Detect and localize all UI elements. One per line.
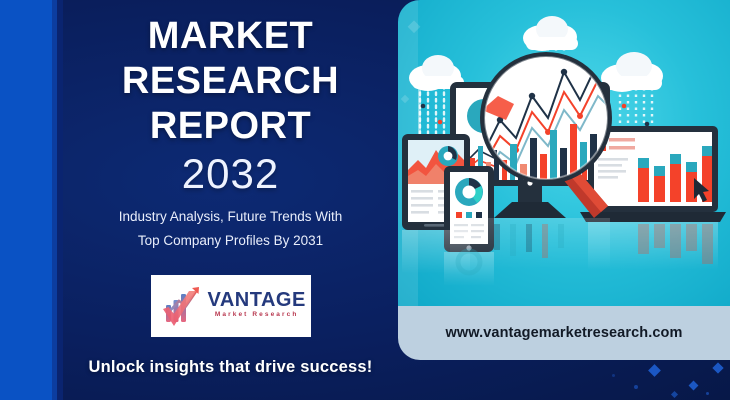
magnifying-glass-icon — [480, 52, 614, 218]
logo-name: VANTAGE — [208, 290, 306, 310]
donut-chart — [455, 178, 483, 206]
subtitle-line-1: Industry Analysis, Future Trends With — [77, 205, 384, 229]
donut-chart — [438, 146, 458, 166]
subtitle-line-2: Top Company Profiles By 2031 — [77, 229, 384, 253]
page-title: MARKET RESEARCH REPORT 2032 — [63, 14, 398, 199]
decorative-dot — [634, 385, 638, 389]
logo-subtitle: Market Research — [215, 310, 299, 320]
website-url-panel[interactable]: www.vantagemarketresearch.com — [398, 306, 730, 360]
legend-swatch — [456, 212, 462, 218]
title-year: 2032 — [63, 149, 398, 199]
title-line-3: REPORT — [63, 104, 398, 149]
logo-wordmark: VANTAGE Market Research — [208, 290, 306, 322]
decorative-dot — [612, 374, 615, 377]
tagline: Unlock insights that drive success! — [63, 358, 398, 377]
title-line-1: MARKET — [63, 14, 398, 59]
website-url[interactable]: www.vantagemarketresearch.com — [446, 325, 683, 341]
legend-swatch — [466, 212, 472, 218]
data-analytics-illustration — [398, 0, 730, 306]
decorative-dot — [706, 392, 709, 395]
cloud-icon — [601, 52, 663, 92]
left-accent-stripe — [0, 0, 52, 400]
subtitle: Industry Analysis, Future Trends With To… — [77, 205, 384, 253]
left-content-column: MARKET RESEARCH REPORT 2032 Industry Ana… — [63, 0, 398, 400]
legend-swatch — [476, 212, 482, 218]
market-research-banner: MARKET RESEARCH REPORT 2032 Industry Ana… — [0, 0, 730, 400]
growth-arrow-checkmark-icon — [156, 281, 208, 331]
vantage-logo: VANTAGE Market Research — [151, 275, 311, 337]
illustration-svg — [398, 0, 730, 306]
title-line-2: RESEARCH — [63, 59, 398, 104]
cloud-icon — [523, 16, 578, 51]
